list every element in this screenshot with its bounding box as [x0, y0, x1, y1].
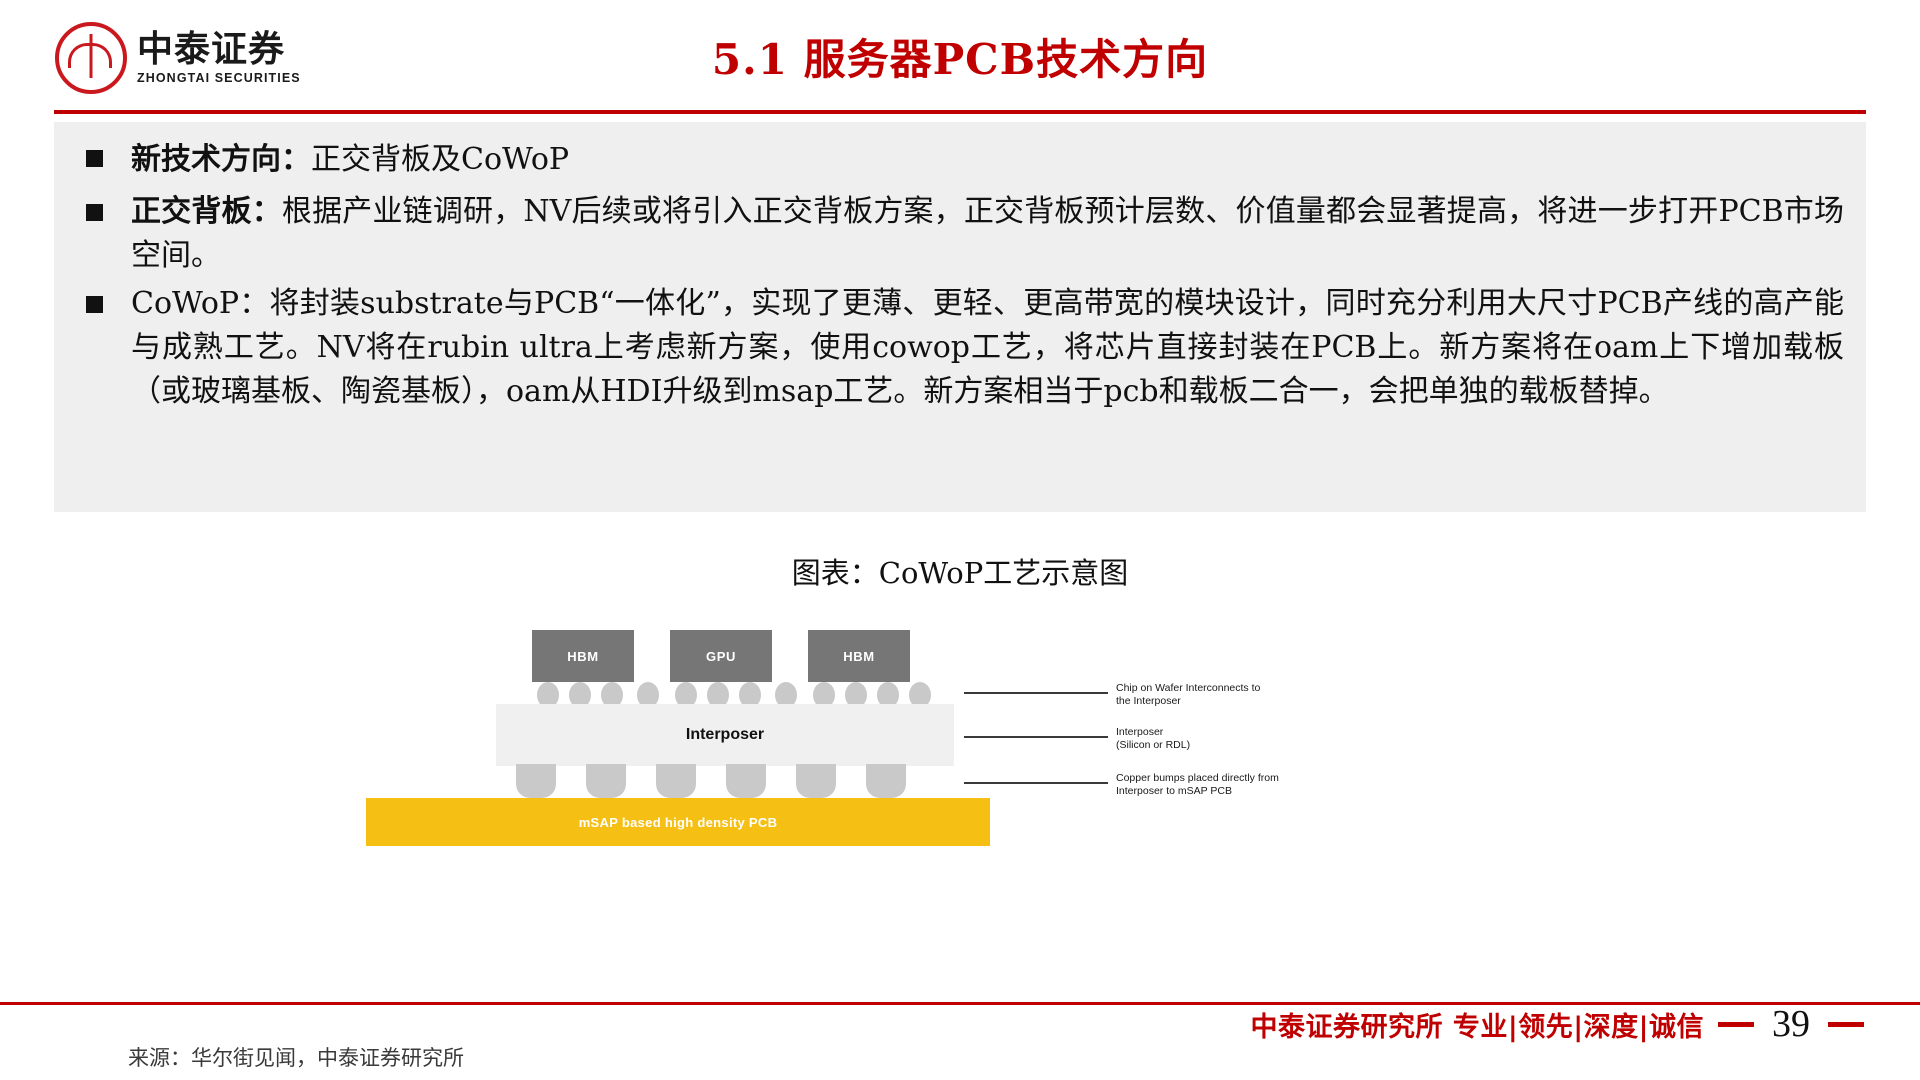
bullet-text-3: CoWoP：将封装substrate与PCB“一体化”，实现了更薄、更轻、更高带…: [131, 282, 1844, 414]
square-bullet-icon: [86, 150, 103, 167]
slide-header: 中泰证券 ZHONGTAI SECURITIES 5.1 服务器PCB技术方向: [0, 0, 1920, 112]
bullet-lead-1: 新技术方向：: [131, 142, 311, 177]
leader-line-2: [964, 736, 1108, 738]
annotation-chip-on-wafer-line1: Chip on Wafer Interconnects to: [1116, 682, 1306, 695]
bullet-text-1: 新技术方向：正交背板及CoWoP: [131, 136, 1844, 184]
footer-dash-icon: [1828, 1022, 1864, 1027]
annotation-interposer: Interposer (Silicon or RDL): [1116, 726, 1306, 752]
cowop-process-diagram: HBM GPU HBM Interposer mSAP based high d…: [440, 660, 1340, 920]
annotation-copper-bumps-line1: Copper bumps placed directly from: [1116, 772, 1306, 785]
footer-dash-icon: [1718, 1022, 1754, 1027]
bullet-lead-3: CoWoP：: [131, 286, 270, 321]
content-panel: 新技术方向：正交背板及CoWoP 正交背板：根据产业链调研，NV后续或将引入正交…: [54, 122, 1866, 512]
bullet-item-1: 新技术方向：正交背板及CoWoP: [76, 136, 1844, 184]
bullet-lead-2: 正交背板：: [131, 194, 282, 229]
copper-bump: [656, 764, 696, 798]
copper-bump: [796, 764, 836, 798]
annotation-interposer-line1: Interposer: [1116, 726, 1306, 739]
interposer-layer: Interposer: [496, 704, 954, 766]
square-bullet-icon: [86, 296, 103, 313]
annotation-interposer-line2: (Silicon or RDL): [1116, 739, 1306, 752]
annotation-chip-on-wafer-line2: the Interposer: [1116, 695, 1306, 708]
copper-bump: [726, 764, 766, 798]
bullet-body-1: 正交背板及CoWoP: [311, 142, 569, 177]
bullet-body-2: 根据产业链调研，NV后续或将引入正交背板方案，正交背板预计层数、价值量都会显著提…: [131, 194, 1844, 273]
square-bullet-icon: [86, 204, 103, 221]
source-note: 来源：华尔街见闻，中泰证券研究所: [128, 1042, 464, 1072]
footer-slogan: 中泰证券研究所 专业|领先|深度|诚信: [1251, 1005, 1704, 1044]
chip-hbm-right: HBM: [808, 630, 910, 682]
bullet-text-2: 正交背板：根据产业链调研，NV后续或将引入正交背板方案，正交背板预计层数、价值量…: [131, 190, 1844, 278]
annotation-copper-bumps-line2: Interposer to mSAP PCB: [1116, 785, 1306, 798]
msap-pcb-layer: mSAP based high density PCB: [366, 798, 990, 846]
copper-bump: [866, 764, 906, 798]
page-number: 39: [1768, 1002, 1814, 1046]
header-divider: [54, 110, 1866, 114]
chip-gpu: GPU: [670, 630, 772, 682]
page-title: 5.1 服务器PCB技术方向: [0, 26, 1920, 87]
annotation-chip-on-wafer: Chip on Wafer Interconnects to the Inter…: [1116, 682, 1306, 708]
figure-caption: 图表：CoWoP工艺示意图: [0, 550, 1920, 592]
footer-right-block: 中泰证券研究所 专业|领先|深度|诚信 39: [1251, 1002, 1864, 1046]
bullet-item-3: CoWoP：将封装substrate与PCB“一体化”，实现了更薄、更轻、更高带…: [76, 282, 1844, 414]
bullet-body-3: 将封装substrate与PCB“一体化”，实现了更薄、更轻、更高带宽的模块设计…: [131, 286, 1844, 409]
bullet-item-2: 正交背板：根据产业链调研，NV后续或将引入正交背板方案，正交背板预计层数、价值量…: [76, 190, 1844, 278]
leader-line-1: [964, 692, 1108, 694]
annotation-copper-bumps: Copper bumps placed directly from Interp…: [1116, 772, 1306, 798]
chip-hbm-left: HBM: [532, 630, 634, 682]
copper-bump: [586, 764, 626, 798]
leader-line-3: [964, 782, 1108, 784]
copper-bump: [516, 764, 556, 798]
